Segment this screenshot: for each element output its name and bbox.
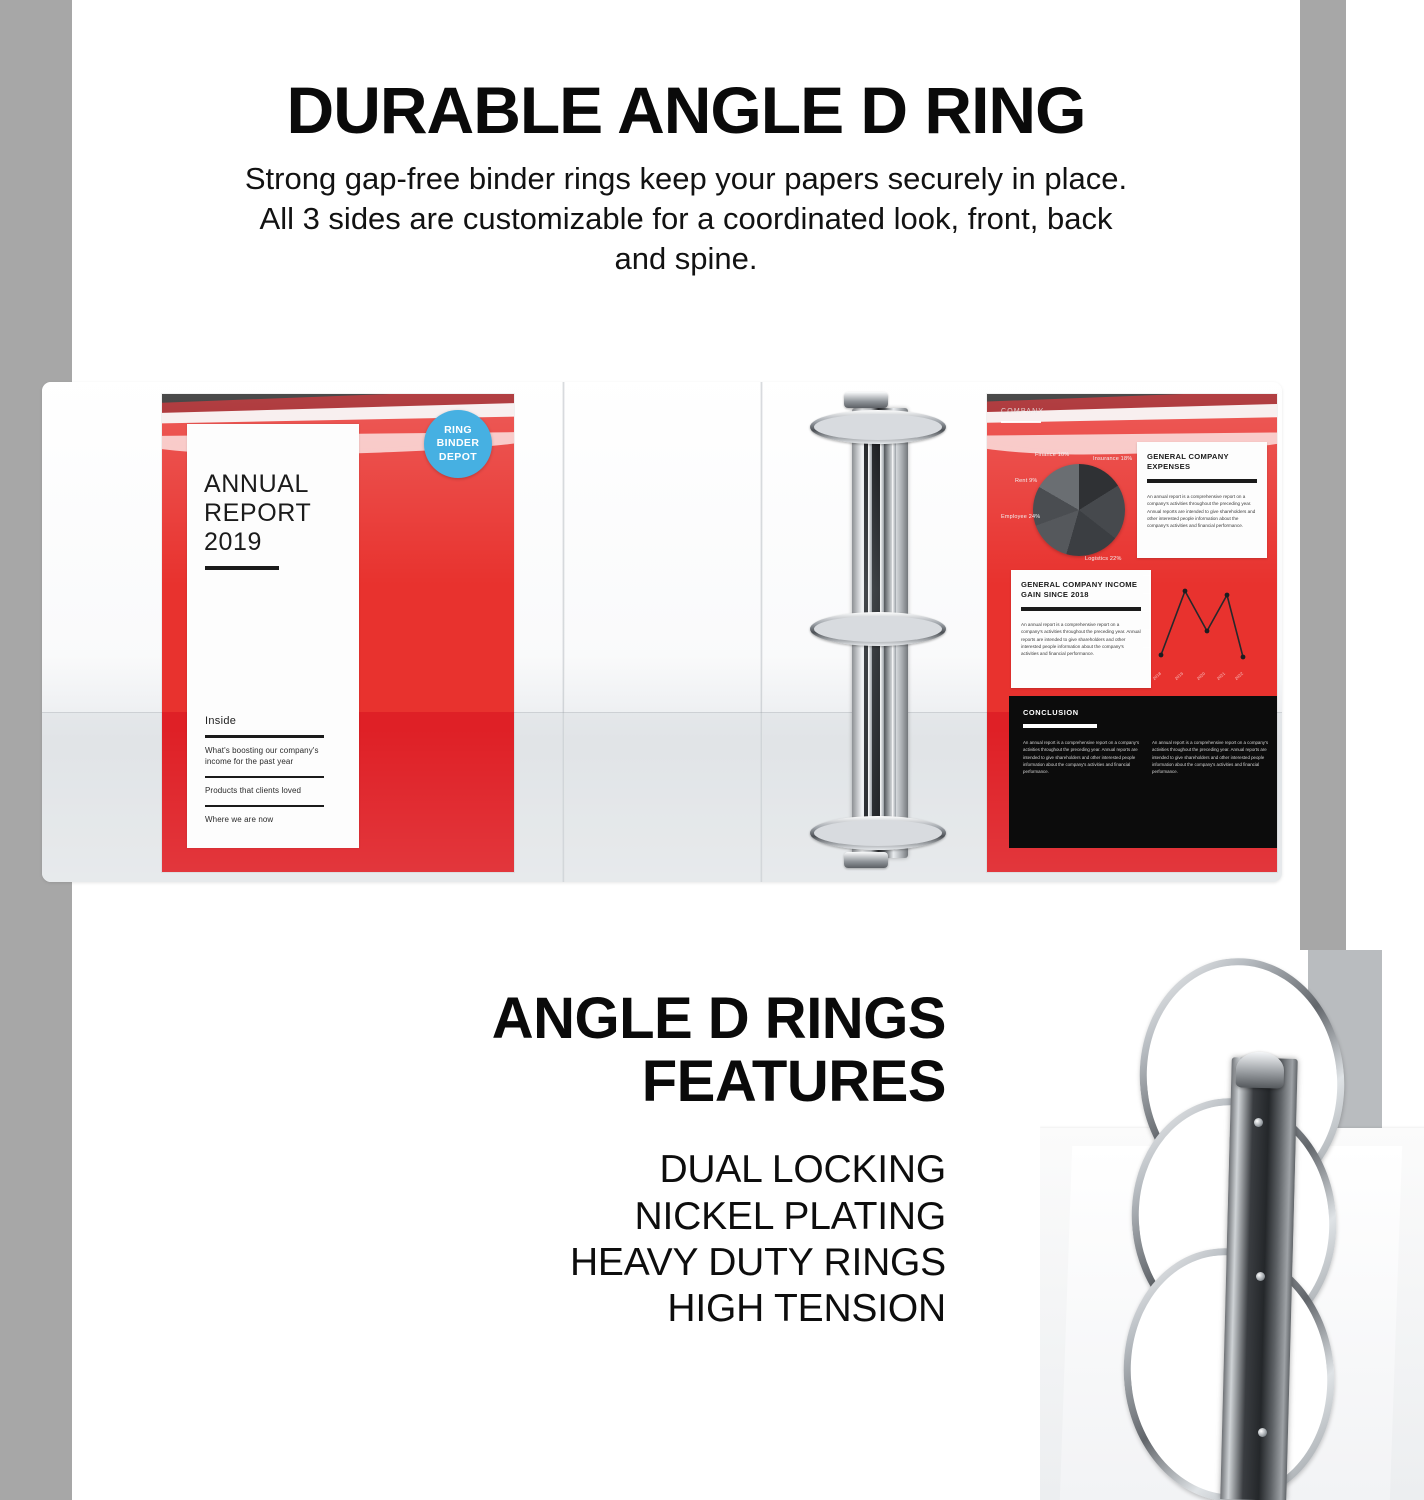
- feature-item: HEAVY DUTY RINGS: [300, 1240, 946, 1286]
- expenses-card-title: GENERAL COMPANY EXPENSES: [1147, 452, 1257, 472]
- expenses-card-rule: [1147, 479, 1257, 483]
- cover-title: ANNUAL REPORT 2019: [204, 470, 349, 557]
- feature-item: HIGH TENSION: [300, 1286, 946, 1332]
- expenses-pie-chart: Finance 10% Insurance 18% Rent 9% Employ…: [1015, 452, 1137, 574]
- locking-lever-top[interactable]: [844, 392, 888, 408]
- ring-inner: [817, 823, 939, 843]
- closeup-rivet: [1258, 1428, 1267, 1437]
- conclusion-title: CONCLUSION: [1023, 708, 1269, 717]
- cover-table-of-contents: Inside What's boosting our company's inc…: [205, 715, 347, 826]
- features-list: DUAL LOCKING NICKEL PLATING HEAVY DUTY R…: [300, 1147, 946, 1333]
- expenses-card-body: An annual report is a comprehensive repo…: [1147, 493, 1257, 530]
- expenses-text-card: GENERAL COMPANY EXPENSES An annual repor…: [1137, 442, 1267, 558]
- income-card-title: GENERAL COMPANY INCOME GAIN SINCE 2018: [1021, 580, 1141, 600]
- ring-inner: [817, 619, 939, 639]
- toc-item: What's boosting our company's income for…: [205, 745, 347, 768]
- binder-ring-mechanism: [802, 386, 954, 878]
- badge-line-3: DEPOT: [439, 451, 477, 464]
- pie-graphic: [1033, 464, 1125, 556]
- cover-title-line1: ANNUAL: [204, 470, 349, 499]
- front-cover-insert: ANNUAL REPORT 2019 Inside What's boostin…: [162, 394, 514, 872]
- closeup-rivet: [1256, 1272, 1265, 1281]
- badge-line-2: BINDER: [437, 437, 480, 450]
- ring-binder-depot-badge: RING BINDER DEPOT: [424, 410, 492, 478]
- ring-inner: [817, 417, 939, 437]
- toc-rule-3: [205, 805, 324, 808]
- ring-closeup-photo: [1040, 950, 1424, 1500]
- pie-label: Insurance 18%: [1093, 456, 1132, 463]
- page-title: DURABLE ANGLE D RING: [72, 76, 1300, 145]
- hero-text-block: DURABLE ANGLE D RING Strong gap-free bin…: [72, 76, 1300, 280]
- feature-item: NICKEL PLATING: [300, 1194, 946, 1240]
- line-chart-svg: [1139, 569, 1251, 681]
- cover-white-panel: ANNUAL REPORT 2019 Inside What's boostin…: [187, 424, 359, 848]
- closeup-rivet: [1254, 1118, 1263, 1127]
- product-photo-open-binder: ANNUAL REPORT 2019 Inside What's boostin…: [42, 382, 1282, 882]
- toc-heading: Inside: [205, 715, 347, 727]
- conclusion-columns: An annual report is a comprehensive repo…: [1023, 739, 1269, 776]
- income-card-body: An annual report is a comprehensive repo…: [1021, 621, 1141, 658]
- pie-label: Rent 9%: [1015, 478, 1038, 485]
- toc-rule-2: [205, 776, 324, 779]
- inside-brand-mark: COMPANY: [1001, 408, 1044, 415]
- binder-ring: [810, 612, 946, 646]
- badge-line-1: RING: [444, 424, 472, 437]
- features-heading-line2: FEATURES: [300, 1051, 946, 1114]
- pie-label: Finance 10%: [1035, 452, 1069, 459]
- income-line-chart: 2018 2019 2020 2021 2022: [1139, 569, 1251, 681]
- conclusion-panel: CONCLUSION An annual report is a compreh…: [1009, 696, 1277, 848]
- inside-brand-rule: [1001, 421, 1041, 423]
- cover-title-rule: [205, 566, 279, 570]
- feature-item: DUAL LOCKING: [300, 1147, 946, 1193]
- income-text-card: GENERAL COMPANY INCOME GAIN SINCE 2018 A…: [1011, 570, 1151, 688]
- toc-item: Where we are now: [205, 814, 347, 826]
- pie-label: Employee 24%: [1001, 514, 1040, 521]
- conclusion-column: An annual report is a comprehensive repo…: [1023, 739, 1140, 776]
- binder-ring: [810, 816, 946, 850]
- conclusion-column: An annual report is a comprehensive repo…: [1152, 739, 1269, 776]
- locking-lever-bottom[interactable]: [844, 852, 888, 868]
- binder-ring: [810, 410, 946, 444]
- hero-subhead: Strong gap-free binder rings keep your p…: [241, 159, 1131, 280]
- features-heading-line1: ANGLE D RINGS: [300, 988, 946, 1051]
- closeup-mechanism-cap: [1236, 1051, 1285, 1088]
- toc-rule-1: [205, 735, 324, 738]
- marketing-card: DURABLE ANGLE D RING Strong gap-free bin…: [0, 0, 1424, 1500]
- cover-title-line3: 2019: [204, 528, 349, 557]
- cover-title-line2: REPORT: [204, 499, 349, 528]
- toc-item: Products that clients loved: [205, 785, 347, 797]
- income-card-rule: [1021, 607, 1141, 611]
- pie-label: Logistics 22%: [1085, 556, 1122, 563]
- inside-page-insert: COMPANY Finance 10% Insurance 18% Rent 9…: [987, 394, 1277, 872]
- features-section: ANGLE D RINGS FEATURES DUAL LOCKING NICK…: [300, 988, 946, 1333]
- conclusion-rule: [1023, 724, 1097, 728]
